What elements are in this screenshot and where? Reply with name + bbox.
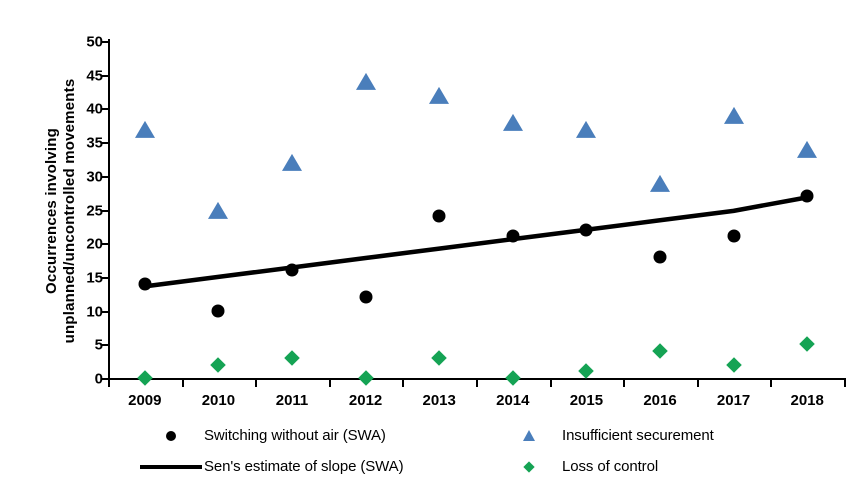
- data-point-diamond: [284, 350, 300, 366]
- data-point-circle: [433, 210, 446, 223]
- data-point-triangle: [650, 174, 670, 191]
- y-axis-tick-label: 25: [86, 202, 103, 219]
- legend-symbol: [496, 451, 562, 482]
- y-axis-tick-label: 0: [95, 371, 103, 388]
- x-axis-tick-mark: [476, 380, 478, 387]
- data-point-circle: [212, 304, 225, 317]
- x-axis-tick-label: 2013: [423, 392, 456, 409]
- data-point-circle: [138, 277, 151, 290]
- x-axis-tick-mark: [550, 380, 552, 387]
- x-axis-tick-label: 2010: [202, 392, 235, 409]
- x-axis-tick-mark: [623, 380, 625, 387]
- data-point-diamond: [431, 350, 447, 366]
- x-axis-tick-label: 2017: [717, 392, 750, 409]
- data-point-triangle: [576, 120, 596, 137]
- y-axis-tick-label: 50: [86, 34, 103, 51]
- data-point-triangle: [797, 141, 817, 158]
- data-point-diamond: [579, 363, 595, 379]
- y-axis-tick-label: 15: [86, 269, 103, 286]
- data-point-triangle: [503, 114, 523, 131]
- data-point-diamond: [799, 337, 815, 353]
- x-axis-tick-mark: [402, 380, 404, 387]
- data-point-triangle: [282, 154, 302, 171]
- data-point-triangle: [135, 120, 155, 137]
- legend-line-icon: [140, 465, 202, 469]
- y-axis-title-line-1: Occurrences involving: [43, 128, 61, 294]
- y-axis-tick-label: 45: [86, 67, 103, 84]
- data-point-diamond: [726, 357, 742, 373]
- y-axis-tick-label: 35: [86, 135, 103, 152]
- data-point-circle: [727, 230, 740, 243]
- data-point-diamond: [211, 357, 227, 373]
- legend-diamond-icon: [523, 461, 534, 472]
- plot-area: [108, 41, 844, 378]
- legend-entry[interactable]: Switching without air (SWA): [138, 420, 498, 451]
- data-point-diamond: [652, 343, 668, 359]
- legend-circle-icon: [166, 431, 176, 441]
- data-point-circle: [580, 223, 593, 236]
- data-point-circle: [506, 230, 519, 243]
- x-axis-tick-label: 2015: [570, 392, 603, 409]
- y-axis-tick-label: 20: [86, 236, 103, 253]
- legend-triangle-icon: [523, 430, 535, 441]
- x-axis-tick-mark: [329, 380, 331, 387]
- chart-legend: Switching without air (SWA)Sen's estimat…: [108, 420, 848, 486]
- data-point-circle: [654, 250, 667, 263]
- data-point-triangle: [429, 87, 449, 104]
- legend-symbol: [496, 420, 562, 451]
- legend-entry-label: Loss of control: [562, 458, 658, 475]
- legend-entry-label: Switching without air (SWA): [204, 427, 386, 444]
- x-axis-tick-label: 2012: [349, 392, 382, 409]
- legend-entry[interactable]: Sen's estimate of slope (SWA): [138, 451, 498, 482]
- legend-column-left: Switching without air (SWA)Sen's estimat…: [138, 420, 498, 486]
- data-point-circle: [286, 264, 299, 277]
- legend-entry[interactable]: Loss of control: [496, 451, 846, 482]
- y-axis-tick-label: 10: [86, 303, 103, 320]
- legend-entry[interactable]: Insufficient securement: [496, 420, 846, 451]
- legend-symbol: [138, 451, 204, 482]
- legend-entry-label: Insufficient securement: [562, 427, 714, 444]
- x-axis-tick-mark: [844, 380, 846, 387]
- data-point-circle: [801, 190, 814, 203]
- y-axis-title: Occurrences involving unplanned/uncontro…: [38, 36, 84, 386]
- x-axis-tick-mark: [770, 380, 772, 387]
- legend-symbol: [138, 420, 204, 451]
- data-point-triangle: [724, 107, 744, 124]
- legend-column-right: Insufficient securementLoss of control: [496, 420, 846, 486]
- x-axis-tick-label: 2014: [496, 392, 529, 409]
- x-axis-tick-label: 2009: [128, 392, 161, 409]
- chart-figure: Occurrences involving unplanned/uncontro…: [0, 0, 851, 490]
- x-axis-tick-mark: [182, 380, 184, 387]
- legend-entry-label: Sen's estimate of slope (SWA): [204, 458, 403, 475]
- x-axis-tick-mark: [697, 380, 699, 387]
- data-point-triangle: [356, 73, 376, 90]
- x-axis-tick-mark: [108, 380, 110, 387]
- y-axis-tick-label: 5: [95, 337, 103, 354]
- data-point-triangle: [208, 201, 228, 218]
- y-axis-title-line-2: unplanned/uncontrolled movements: [61, 79, 79, 344]
- x-axis-tick-label: 2018: [791, 392, 824, 409]
- x-axis-tick-label: 2011: [276, 392, 309, 409]
- x-axis-ticks: 2009201020112012201320142015201620172018: [108, 380, 846, 420]
- data-point-circle: [359, 291, 372, 304]
- y-axis-tick-label: 40: [86, 101, 103, 118]
- y-axis-tick-label: 30: [86, 168, 103, 185]
- x-axis-tick-label: 2016: [643, 392, 676, 409]
- x-axis-tick-mark: [255, 380, 257, 387]
